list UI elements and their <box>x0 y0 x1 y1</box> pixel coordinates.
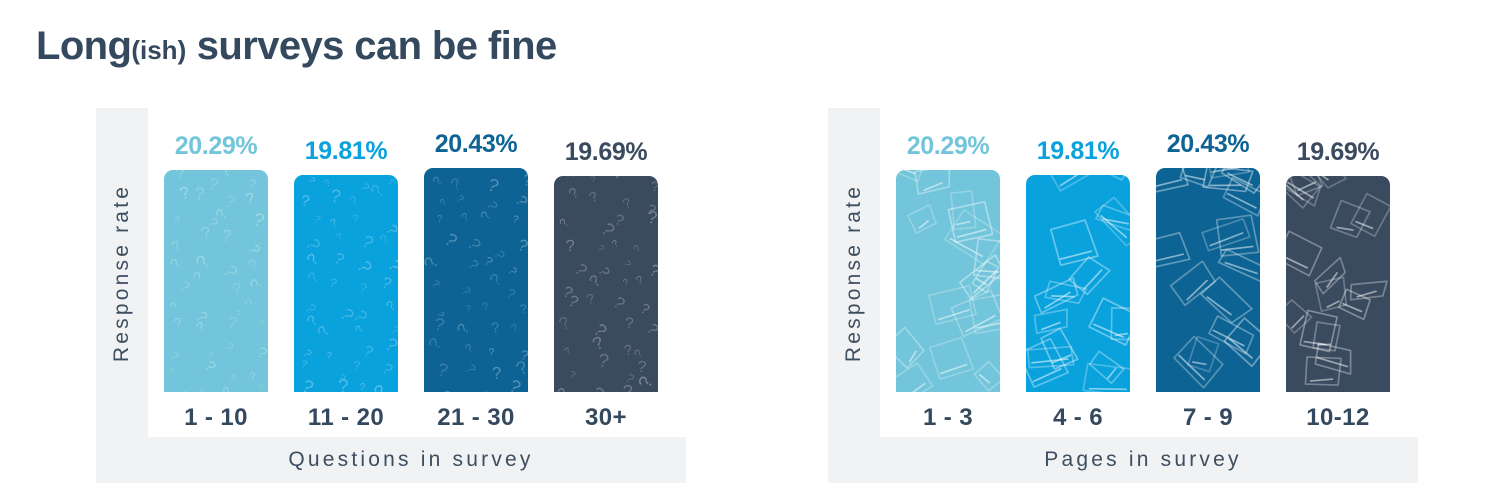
page-title-main-before: Long <box>36 24 131 68</box>
svg-text:?: ? <box>424 254 442 271</box>
svg-text:?: ? <box>353 358 361 372</box>
bar-category-label: 4 - 6 <box>1053 399 1103 437</box>
svg-text:?: ? <box>329 185 342 206</box>
bar-value-label: 20.43% <box>435 130 517 159</box>
svg-text:?: ? <box>242 296 260 311</box>
svg-text:?: ? <box>585 291 596 307</box>
bar-category-label: 1 - 3 <box>923 399 973 437</box>
svg-text:?: ? <box>177 278 193 297</box>
svg-text:?: ? <box>244 242 263 257</box>
svg-text:?: ? <box>346 192 361 210</box>
svg-text:?: ? <box>254 345 268 363</box>
svg-text:?: ? <box>438 197 450 209</box>
svg-text:?: ? <box>440 389 452 392</box>
svg-text:?: ? <box>521 170 528 190</box>
svg-text:?: ? <box>621 259 634 270</box>
svg-text:?: ? <box>621 277 630 288</box>
svg-text:?: ? <box>304 250 323 269</box>
svg-text:?: ? <box>554 385 574 392</box>
svg-text:?: ? <box>246 256 262 275</box>
svg-text:?: ? <box>437 214 443 225</box>
bar: ????????????????????????????????????????… <box>294 175 398 392</box>
svg-text:?: ? <box>482 254 495 270</box>
svg-text:?: ? <box>223 192 238 212</box>
svg-text:?: ? <box>231 280 243 299</box>
page-title-main-after: surveys can be fine <box>186 24 556 68</box>
svg-text:?: ? <box>566 185 582 203</box>
bar <box>1156 168 1260 392</box>
bar-value-label: 20.29% <box>907 132 989 161</box>
bar-category-label: 11 - 20 <box>308 399 384 437</box>
bar-group: 20.29%1 - 3 <box>892 108 1004 437</box>
svg-text:?: ? <box>454 321 473 337</box>
bar: ????????????????????????????????????????… <box>554 176 658 392</box>
svg-text:?: ? <box>167 366 180 378</box>
chart-questions-in-survey: Response rate 20.29%????????????????????… <box>96 108 686 483</box>
plot-area-right: 20.29%1 - 319.81%4 - 620.43%7 - 919.69%1… <box>892 108 1418 437</box>
svg-text:?: ? <box>631 243 644 255</box>
svg-text:?: ? <box>488 346 494 358</box>
svg-text:?: ? <box>441 229 461 251</box>
svg-text:?: ? <box>299 375 318 392</box>
svg-text:?: ? <box>249 371 256 382</box>
bar-category-label: 7 - 9 <box>1183 399 1233 437</box>
svg-text:?: ? <box>459 284 474 298</box>
bar-group: 19.69%??????????????????????????????????… <box>550 108 662 437</box>
svg-text:?: ? <box>168 350 181 363</box>
svg-text:?: ? <box>612 211 626 230</box>
svg-text:?: ? <box>436 359 450 381</box>
svg-text:?: ? <box>222 227 232 245</box>
bar <box>1286 176 1390 392</box>
bar-category-label: 30+ <box>585 399 627 437</box>
svg-text:?: ? <box>465 304 472 316</box>
svg-text:?: ? <box>201 359 219 375</box>
svg-text:?: ? <box>335 231 346 243</box>
bar-value-label: 19.81% <box>1037 137 1119 166</box>
svg-text:?: ? <box>492 168 503 170</box>
svg-text:?: ? <box>328 275 339 291</box>
svg-text:?: ? <box>464 342 476 355</box>
svg-text:?: ? <box>193 386 206 392</box>
svg-text:?: ? <box>556 216 571 230</box>
svg-text:?: ? <box>646 261 658 281</box>
svg-text:?: ? <box>594 243 606 255</box>
svg-text:?: ? <box>221 385 235 392</box>
svg-text:?: ? <box>484 199 501 212</box>
svg-text:?: ? <box>429 173 445 188</box>
svg-text:?: ? <box>221 340 236 354</box>
svg-text:?: ? <box>219 262 242 282</box>
svg-text:?: ? <box>358 231 377 253</box>
bar-value-label: 20.29% <box>175 132 257 161</box>
plot-area-left: 20.29%??????????????????????????????????… <box>160 108 686 437</box>
bar-category-label: 1 - 10 <box>184 399 248 437</box>
svg-text:?: ? <box>556 312 574 334</box>
bar-value-label: 19.69% <box>565 138 647 167</box>
bar-group: 20.29%??????????????????????????????????… <box>160 108 272 437</box>
svg-text:?: ? <box>251 208 267 231</box>
svg-text:?: ? <box>650 178 658 195</box>
bar <box>1026 175 1130 392</box>
svg-text:?: ? <box>304 269 321 286</box>
page-title: Long(ish) surveys can be fine <box>36 26 557 66</box>
svg-text:?: ? <box>381 333 398 356</box>
bar-group: 19.81%4 - 6 <box>1022 108 1134 437</box>
svg-text:?: ? <box>463 235 485 255</box>
svg-text:?: ? <box>257 382 265 392</box>
svg-text:?: ? <box>463 362 478 376</box>
svg-text:?: ? <box>352 213 360 225</box>
svg-text:?: ? <box>609 293 628 314</box>
svg-text:?: ? <box>634 373 657 391</box>
svg-text:?: ? <box>520 302 527 316</box>
svg-text:?: ? <box>175 170 186 183</box>
bar-value-label: 19.69% <box>1297 138 1379 167</box>
svg-text:?: ? <box>168 256 186 272</box>
chart-pages-in-survey: Response rate 20.29%1 - 319.81%4 - 620.4… <box>828 108 1418 483</box>
svg-text:?: ? <box>254 318 266 330</box>
svg-text:?: ? <box>620 195 634 213</box>
bar <box>896 170 1000 392</box>
svg-text:?: ? <box>194 319 207 335</box>
svg-text:?: ? <box>429 278 441 291</box>
x-axis-title-left: Questions in survey <box>96 437 686 483</box>
svg-text:?: ? <box>597 350 611 372</box>
svg-text:?: ? <box>433 313 447 335</box>
svg-text:?: ? <box>485 174 502 196</box>
page-title-ish: (ish) <box>131 35 186 65</box>
svg-text:?: ? <box>595 265 613 278</box>
svg-text:?: ? <box>637 301 652 319</box>
svg-text:?: ? <box>168 300 181 311</box>
bar-category-label: 10-12 <box>1306 399 1369 437</box>
svg-text:?: ? <box>181 388 190 392</box>
svg-text:?: ? <box>568 369 577 380</box>
svg-text:?: ? <box>612 176 624 183</box>
svg-text:?: ? <box>505 285 519 302</box>
bar-value-label: 20.43% <box>1167 130 1249 159</box>
svg-text:?: ? <box>247 277 266 291</box>
svg-text:?: ? <box>302 235 325 254</box>
bar: ????????????????????????????????????????… <box>164 170 268 392</box>
svg-text:?: ? <box>506 375 525 392</box>
y-axis-title-left: Response rate <box>96 108 148 438</box>
svg-text:?: ? <box>370 381 391 392</box>
svg-text:?: ? <box>610 238 620 249</box>
svg-text:?: ? <box>299 192 311 210</box>
svg-text:?: ? <box>206 174 220 195</box>
svg-text:?: ? <box>510 322 520 335</box>
bar-group: 20.43%??????????????????????????????????… <box>420 108 532 437</box>
svg-text:?: ? <box>424 334 446 354</box>
bar-category-label: 21 - 30 <box>437 399 515 437</box>
svg-text:?: ? <box>194 183 205 204</box>
svg-text:?: ? <box>353 324 367 335</box>
bar: ????????????????????????????????????????… <box>424 168 528 392</box>
svg-text:?: ? <box>226 372 237 384</box>
svg-text:?: ? <box>646 207 658 228</box>
bar-group: 20.43%7 - 9 <box>1152 108 1264 437</box>
svg-text:?: ? <box>589 382 608 392</box>
svg-text:?: ? <box>449 175 465 194</box>
svg-text:?: ? <box>454 193 466 205</box>
svg-text:?: ? <box>329 217 340 231</box>
svg-text:?: ? <box>305 175 317 186</box>
svg-text:?: ? <box>353 257 376 276</box>
svg-text:?: ? <box>491 363 502 383</box>
svg-text:?: ? <box>590 176 596 185</box>
bar-group: 19.69%10-12 <box>1282 108 1394 437</box>
svg-text:?: ? <box>314 323 333 339</box>
svg-text:?: ? <box>358 280 369 295</box>
svg-text:?: ? <box>169 238 184 256</box>
svg-text:?: ? <box>385 175 398 188</box>
svg-text:?: ? <box>587 188 600 205</box>
svg-text:?: ? <box>486 270 505 291</box>
svg-text:?: ? <box>174 215 181 227</box>
svg-text:?: ? <box>634 273 646 288</box>
y-axis-title-left-text: Response rate <box>110 184 134 362</box>
svg-text:?: ? <box>625 315 634 332</box>
svg-text:?: ? <box>505 265 520 278</box>
x-axis-title-right-text: Pages in survey <box>1044 448 1241 472</box>
svg-text:?: ? <box>480 389 491 392</box>
svg-text:?: ? <box>326 350 332 360</box>
svg-text:?: ? <box>459 210 472 225</box>
svg-text:?: ? <box>331 250 347 269</box>
svg-text:?: ? <box>643 321 658 339</box>
bar-group: 19.81%??????????????????????????????????… <box>290 108 402 437</box>
svg-text:?: ? <box>621 380 633 392</box>
svg-text:?: ? <box>515 236 528 256</box>
svg-text:?: ? <box>359 382 366 392</box>
svg-text:?: ? <box>490 319 500 337</box>
svg-text:?: ? <box>464 257 481 274</box>
svg-text:?: ? <box>361 343 376 362</box>
x-axis-title-left-text: Questions in survey <box>288 448 533 472</box>
svg-text:?: ? <box>481 300 490 313</box>
svg-text:?: ? <box>565 176 577 180</box>
svg-text:?: ? <box>177 182 192 204</box>
svg-text:?: ? <box>299 359 309 371</box>
svg-text:?: ? <box>562 345 573 357</box>
svg-text:?: ? <box>511 193 528 210</box>
svg-text:?: ? <box>379 274 394 293</box>
y-axis-title-right-text: Response rate <box>842 184 866 362</box>
svg-text:?: ? <box>478 209 495 223</box>
svg-text:?: ? <box>383 298 398 315</box>
svg-text:?: ? <box>378 360 396 379</box>
svg-text:?: ? <box>338 375 349 392</box>
bar-value-label: 19.81% <box>305 137 387 166</box>
y-axis-title-right: Response rate <box>828 108 880 438</box>
svg-text:?: ? <box>511 214 520 226</box>
x-axis-title-right: Pages in survey <box>828 437 1418 483</box>
svg-text:?: ? <box>244 190 255 208</box>
svg-text:?: ? <box>173 315 183 331</box>
svg-text:?: ? <box>226 315 238 333</box>
svg-text:?: ? <box>384 256 398 275</box>
svg-text:?: ? <box>300 346 315 360</box>
svg-text:?: ? <box>312 214 322 226</box>
svg-text:?: ? <box>565 237 575 255</box>
